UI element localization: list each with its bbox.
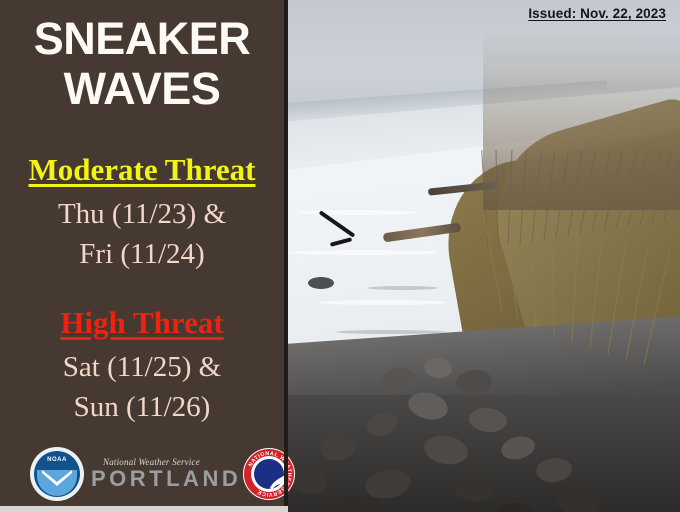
agency-logo-bar: NOAA National Weather Service PORTLAND	[0, 443, 284, 505]
noaa-seagull-seal-icon: NOAA	[30, 447, 84, 501]
high-threat-heading: High Threat	[0, 305, 284, 341]
panel-divider	[284, 0, 288, 512]
moderate-threat-group: Moderate Threat Thu (11/23) & Fri (11/24…	[0, 152, 284, 274]
left-info-panel: SNEAKER WAVES Moderate Threat Thu (11/23…	[0, 0, 284, 512]
issued-date-label: Issued: Nov. 22, 2023	[528, 6, 666, 21]
bottom-edge-strip	[0, 506, 288, 512]
high-threat-dates-line-1: Sat (11/25) &	[0, 347, 284, 387]
moderate-threat-dates-line-2: Fri (11/24)	[0, 234, 284, 274]
title-line-2: WAVES	[0, 64, 284, 114]
title-line-1: SNEAKER	[0, 14, 284, 64]
noaa-wordmark: NOAA	[34, 457, 80, 463]
high-threat-group: High Threat Sat (11/25) & Sun (11/26)	[0, 305, 284, 427]
moderate-threat-dates-line-1: Thu (11/23) &	[0, 194, 284, 234]
nws-portland-wordmark: National Weather Service PORTLAND	[91, 457, 241, 491]
office-name: PORTLAND	[91, 467, 241, 491]
page-title: SNEAKER WAVES	[0, 14, 284, 114]
rock-detail	[288, 320, 680, 512]
sneaker-waves-poster: Issued: Nov. 22, 2023 Waves run up highe…	[0, 0, 680, 512]
beach-photo: Issued: Nov. 22, 2023 Waves run up highe…	[288, 0, 680, 512]
seagull-glyph	[41, 468, 73, 488]
moderate-threat-heading: Moderate Threat	[0, 152, 284, 188]
high-threat-dates-line-2: Sun (11/26)	[0, 387, 284, 427]
